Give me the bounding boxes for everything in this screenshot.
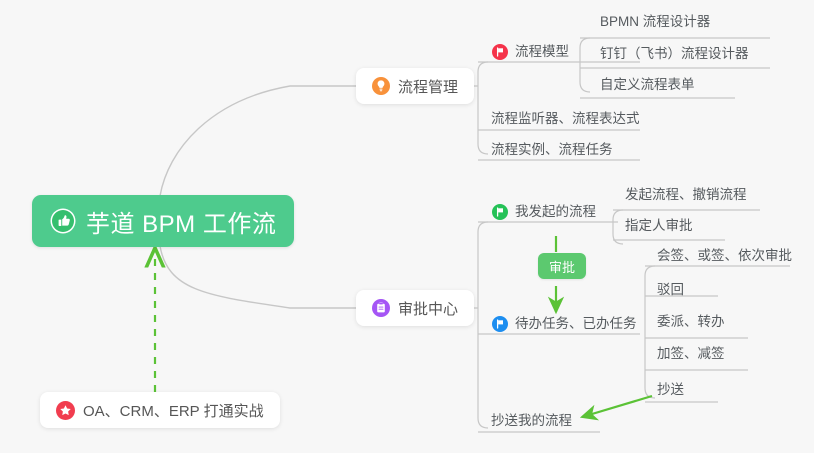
label-start-cancel-process: 发起流程、撤销流程 xyxy=(625,184,747,206)
label-dingtalk-feishu-designer: 钉钉（飞书）流程设计器 xyxy=(600,43,749,65)
flag-green-icon xyxy=(492,204,508,220)
node-start-cancel-process[interactable]: 发起流程、撤销流程 xyxy=(625,184,747,206)
bracket-approval-center xyxy=(478,222,488,428)
node-dingtalk-feishu-designer[interactable]: 钉钉（飞书）流程设计器 xyxy=(600,43,749,65)
label-bpmn-designer: BPMN 流程设计器 xyxy=(600,11,710,33)
node-custom-process-form[interactable]: 自定义流程表单 xyxy=(600,74,695,96)
label-cc: 抄送 xyxy=(657,379,684,401)
connector-root-to-process-management xyxy=(160,86,356,196)
branch-node-process-management[interactable]: 流程管理 xyxy=(356,68,474,104)
lightbulb-icon xyxy=(372,77,390,95)
label-delegate-transfer: 委派、转办 xyxy=(657,311,725,333)
node-multi-sign[interactable]: 会签、或签、依次审批 xyxy=(657,245,792,267)
bracket-my-initiated xyxy=(613,210,623,244)
badge-approval-label: 审批 xyxy=(549,257,575,276)
node-cc-to-me[interactable]: 抄送我的流程 xyxy=(491,410,572,432)
bracket-process-model xyxy=(580,38,590,92)
node-reject[interactable]: 驳回 xyxy=(657,279,684,301)
label-custom-process-form: 自定义流程表单 xyxy=(600,74,695,96)
label-multi-sign: 会签、或签、依次审批 xyxy=(657,245,792,267)
floating-node-oa-crm-erp[interactable]: OA、CRM、ERP 打通实战 xyxy=(40,392,280,428)
floating-label-oa-crm-erp: OA、CRM、ERP 打通实战 xyxy=(83,400,264,421)
label-process-model: 流程模型 xyxy=(515,41,569,63)
node-add-remove-sign[interactable]: 加签、减签 xyxy=(657,343,725,365)
bracket-process-management xyxy=(478,62,488,154)
node-assignee-approval[interactable]: 指定人审批 xyxy=(625,215,693,237)
node-delegate-transfer[interactable]: 委派、转办 xyxy=(657,311,725,333)
branch-label-approval-center: 审批中心 xyxy=(398,298,458,319)
badge-approval[interactable]: 审批 xyxy=(538,253,586,279)
label-my-initiated-process: 我发起的流程 xyxy=(515,201,596,223)
flag-blue-icon xyxy=(492,316,508,332)
root-node[interactable]: 芋道 BPM 工作流 xyxy=(32,195,294,247)
label-assignee-approval: 指定人审批 xyxy=(625,215,693,237)
root-label: 芋道 BPM 工作流 xyxy=(86,204,276,239)
branch-node-approval-center[interactable]: 审批中心 xyxy=(356,290,474,326)
thumbs-up-icon xyxy=(50,208,76,234)
label-reject: 驳回 xyxy=(657,279,684,301)
node-todo-done-tasks[interactable]: 待办任务、已办任务 xyxy=(492,313,637,335)
clipboard-icon xyxy=(372,299,390,317)
node-my-initiated-process[interactable]: 我发起的流程 xyxy=(492,201,596,223)
bracket-todo-done xyxy=(645,266,655,398)
mindmap-canvas: 芋道 BPM 工作流 流程管理 流程模型 BPMN 流程设计器 钉钉（飞书）流 xyxy=(0,0,814,453)
node-listener-expression[interactable]: 流程监听器、流程表达式 xyxy=(491,108,640,130)
arrow-cc-to-my-process xyxy=(582,396,652,417)
node-bpmn-designer[interactable]: BPMN 流程设计器 xyxy=(600,11,710,33)
node-process-model[interactable]: 流程模型 xyxy=(492,41,569,63)
label-add-remove-sign: 加签、减签 xyxy=(657,343,725,365)
label-listener-expression: 流程监听器、流程表达式 xyxy=(491,108,640,130)
connector-root-to-approval-center xyxy=(160,246,356,308)
branch-label-process-management: 流程管理 xyxy=(398,76,458,97)
flag-red-icon xyxy=(492,44,508,60)
label-instance-task: 流程实例、流程任务 xyxy=(491,139,613,161)
label-cc-to-me: 抄送我的流程 xyxy=(491,410,572,432)
star-icon xyxy=(56,401,75,420)
node-instance-task[interactable]: 流程实例、流程任务 xyxy=(491,139,613,161)
label-todo-done-tasks: 待办任务、已办任务 xyxy=(515,313,637,335)
node-cc[interactable]: 抄送 xyxy=(657,379,684,401)
